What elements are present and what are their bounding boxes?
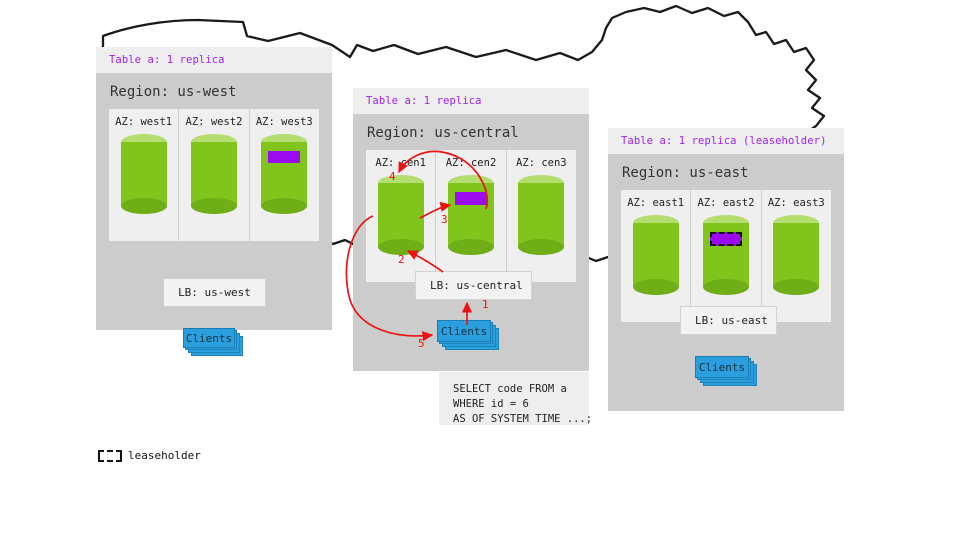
legend-leaseholder: leaseholder	[98, 449, 201, 462]
node-cylinder-west2[interactable]	[191, 134, 237, 214]
az-cell-cen2[interactable]: AZ: cen2	[435, 150, 505, 282]
replica-marker-west3[interactable]	[268, 151, 300, 163]
load-balancer-us-east[interactable]: LB: us-east	[680, 306, 777, 335]
cylinder-bottom	[633, 279, 679, 295]
region-panel-us-east: Table a: 1 replica (leaseholder) Region:…	[608, 128, 844, 411]
az-cell-cen3[interactable]: AZ: cen3	[506, 150, 576, 282]
legend-label: leaseholder	[128, 449, 201, 462]
az-label-cen1: AZ: cen1	[366, 157, 435, 169]
cylinder-body	[191, 142, 237, 206]
az-cell-cen1[interactable]: AZ: cen1	[366, 150, 435, 282]
cylinder-body	[121, 142, 167, 206]
dashed-rect-icon	[98, 450, 122, 462]
az-label-cen2: AZ: cen2	[436, 157, 505, 169]
cylinder-bottom	[191, 198, 237, 214]
replica-marker-cen2[interactable]	[455, 192, 487, 205]
az-label-east2: AZ: east2	[691, 197, 760, 209]
node-cylinder-east1[interactable]	[633, 215, 679, 295]
az-label-west1: AZ: west1	[109, 116, 178, 128]
region-title-us-central: Region: us-central	[353, 114, 589, 150]
az-row-us-east: AZ: east1 AZ: east2 AZ: east3	[621, 190, 831, 322]
az-row-us-central: AZ: cen1 AZ: cen2 AZ: cen3	[366, 150, 576, 282]
replica-marker-leaseholder-east2[interactable]	[710, 232, 742, 246]
cylinder-bottom	[261, 198, 307, 214]
diagram-canvas: Table a: 1 replica Region: us-west AZ: w…	[0, 0, 960, 540]
node-cylinder-cen2[interactable]	[448, 175, 494, 255]
clients-button-us-east[interactable]: Clients	[695, 356, 749, 378]
node-cylinder-cen3[interactable]	[518, 175, 564, 255]
node-cylinder-east2[interactable]	[703, 215, 749, 295]
clients-stack-us-east[interactable]: Clients	[695, 356, 761, 386]
az-label-east1: AZ: east1	[621, 197, 690, 209]
sql-query-box: SELECT code FROM a WHERE id = 6 AS OF SY…	[439, 372, 589, 425]
load-balancer-us-central[interactable]: LB: us-central	[415, 271, 532, 300]
node-cylinder-west1[interactable]	[121, 134, 167, 214]
region-title-us-west: Region: us-west	[96, 73, 332, 109]
az-cell-east3[interactable]: AZ: east3	[761, 190, 831, 322]
az-cell-west3[interactable]: AZ: west3	[249, 109, 319, 241]
az-label-west2: AZ: west2	[179, 116, 248, 128]
az-cell-east1[interactable]: AZ: east1	[621, 190, 690, 322]
load-balancer-us-west[interactable]: LB: us-west	[163, 278, 266, 307]
cylinder-bottom	[773, 279, 819, 295]
cylinder-body	[518, 183, 564, 247]
clients-button-us-west[interactable]: Clients	[183, 328, 235, 348]
clients-button-us-central[interactable]: Clients	[437, 320, 491, 342]
region-panel-us-west: Table a: 1 replica Region: us-west AZ: w…	[96, 47, 332, 330]
table-replica-header-us-west: Table a: 1 replica	[96, 47, 332, 73]
cylinder-bottom	[121, 198, 167, 214]
table-replica-header-us-central: Table a: 1 replica	[353, 88, 589, 114]
az-label-cen3: AZ: cen3	[507, 157, 576, 169]
node-cylinder-east3[interactable]	[773, 215, 819, 295]
az-label-east3: AZ: east3	[762, 197, 831, 209]
cylinder-bottom	[703, 279, 749, 295]
cylinder-bottom	[378, 239, 424, 255]
az-row-us-west: AZ: west1 AZ: west2 AZ: west3	[109, 109, 319, 241]
az-cell-west1[interactable]: AZ: west1	[109, 109, 178, 241]
cylinder-bottom	[448, 239, 494, 255]
region-title-us-east: Region: us-east	[608, 154, 844, 190]
node-cylinder-west3[interactable]	[261, 134, 307, 214]
cylinder-body	[633, 223, 679, 287]
az-cell-west2[interactable]: AZ: west2	[178, 109, 248, 241]
node-cylinder-cen1[interactable]	[378, 175, 424, 255]
region-panel-us-central: Table a: 1 replica Region: us-central AZ…	[353, 88, 589, 371]
table-replica-header-us-east: Table a: 1 replica (leaseholder)	[608, 128, 844, 154]
cylinder-body	[773, 223, 819, 287]
clients-stack-us-west[interactable]: Clients	[183, 328, 247, 356]
az-label-west3: AZ: west3	[250, 116, 319, 128]
cylinder-bottom	[518, 239, 564, 255]
az-cell-east2[interactable]: AZ: east2	[690, 190, 760, 322]
cylinder-body	[378, 183, 424, 247]
clients-stack-us-central[interactable]: Clients	[437, 320, 503, 350]
